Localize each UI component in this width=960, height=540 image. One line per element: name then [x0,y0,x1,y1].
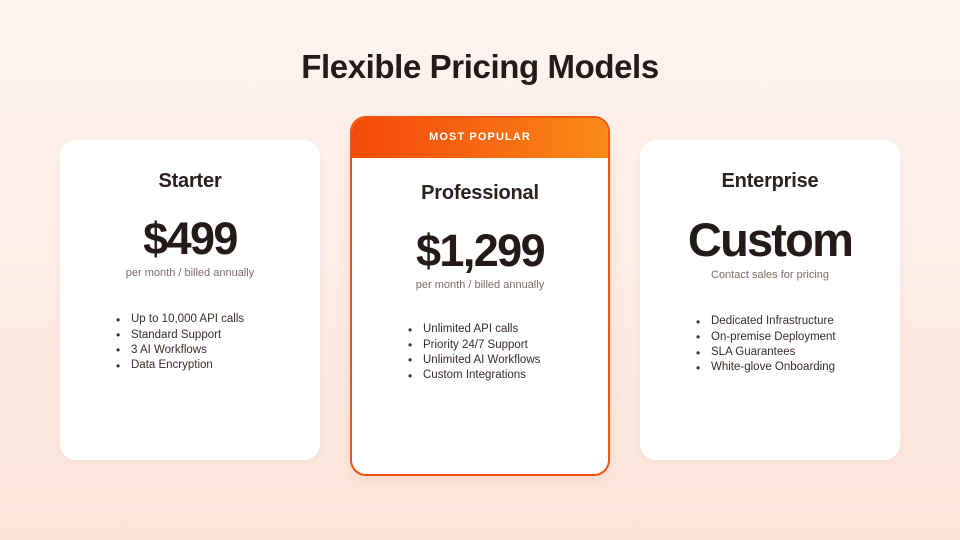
list-item: Up to 10,000 API calls [116,313,302,328]
plan-name-enterprise: Enterprise [658,170,882,193]
list-item: On-premise Deployment [696,331,882,346]
list-item: Unlimited API calls [408,323,590,338]
plan-price-note-professional: per month / billed annually [370,279,590,291]
list-item: Dedicated Infrastructure [696,315,882,330]
plan-name-professional: Professional [370,182,590,205]
plan-price-starter: $499 [78,215,302,262]
card-body-starter: Starter $499 per month / billed annually… [60,140,320,375]
pricing-cards-container: Starter $499 per month / billed annually… [0,0,960,540]
list-item: White-glove Onboarding [696,361,882,376]
card-body-professional: Professional $1,299 per month / billed a… [352,158,608,385]
card-body-enterprise: Enterprise Custom Contact sales for pric… [640,140,900,377]
feature-list-enterprise: Dedicated Infrastructure On-premise Depl… [658,315,882,376]
list-item: Standard Support [116,329,302,344]
pricing-card-starter[interactable]: Starter $499 per month / billed annually… [60,140,320,460]
list-item: Priority 24/7 Support [408,339,590,354]
plan-price-note-enterprise: Contact sales for pricing [658,269,882,281]
plan-name-starter: Starter [78,170,302,193]
plan-price-note-starter: per month / billed annually [78,267,302,279]
status-badge-most-popular: MOST POPULAR [350,116,610,158]
list-item: Unlimited AI Workflows [408,354,590,369]
feature-list-professional: Unlimited API calls Priority 24/7 Suppor… [370,323,590,384]
pricing-card-enterprise[interactable]: Enterprise Custom Contact sales for pric… [640,140,900,460]
list-item: Custom Integrations [408,369,590,384]
list-item: SLA Guarantees [696,346,882,361]
plan-price-enterprise: Custom [658,215,882,264]
feature-list-starter: Up to 10,000 API calls Standard Support … [78,313,302,374]
list-item: Data Encryption [116,359,302,374]
plan-price-professional: $1,299 [370,227,590,274]
pricing-card-professional[interactable]: MOST POPULAR Professional $1,299 per mon… [350,116,610,476]
list-item: 3 AI Workflows [116,344,302,359]
